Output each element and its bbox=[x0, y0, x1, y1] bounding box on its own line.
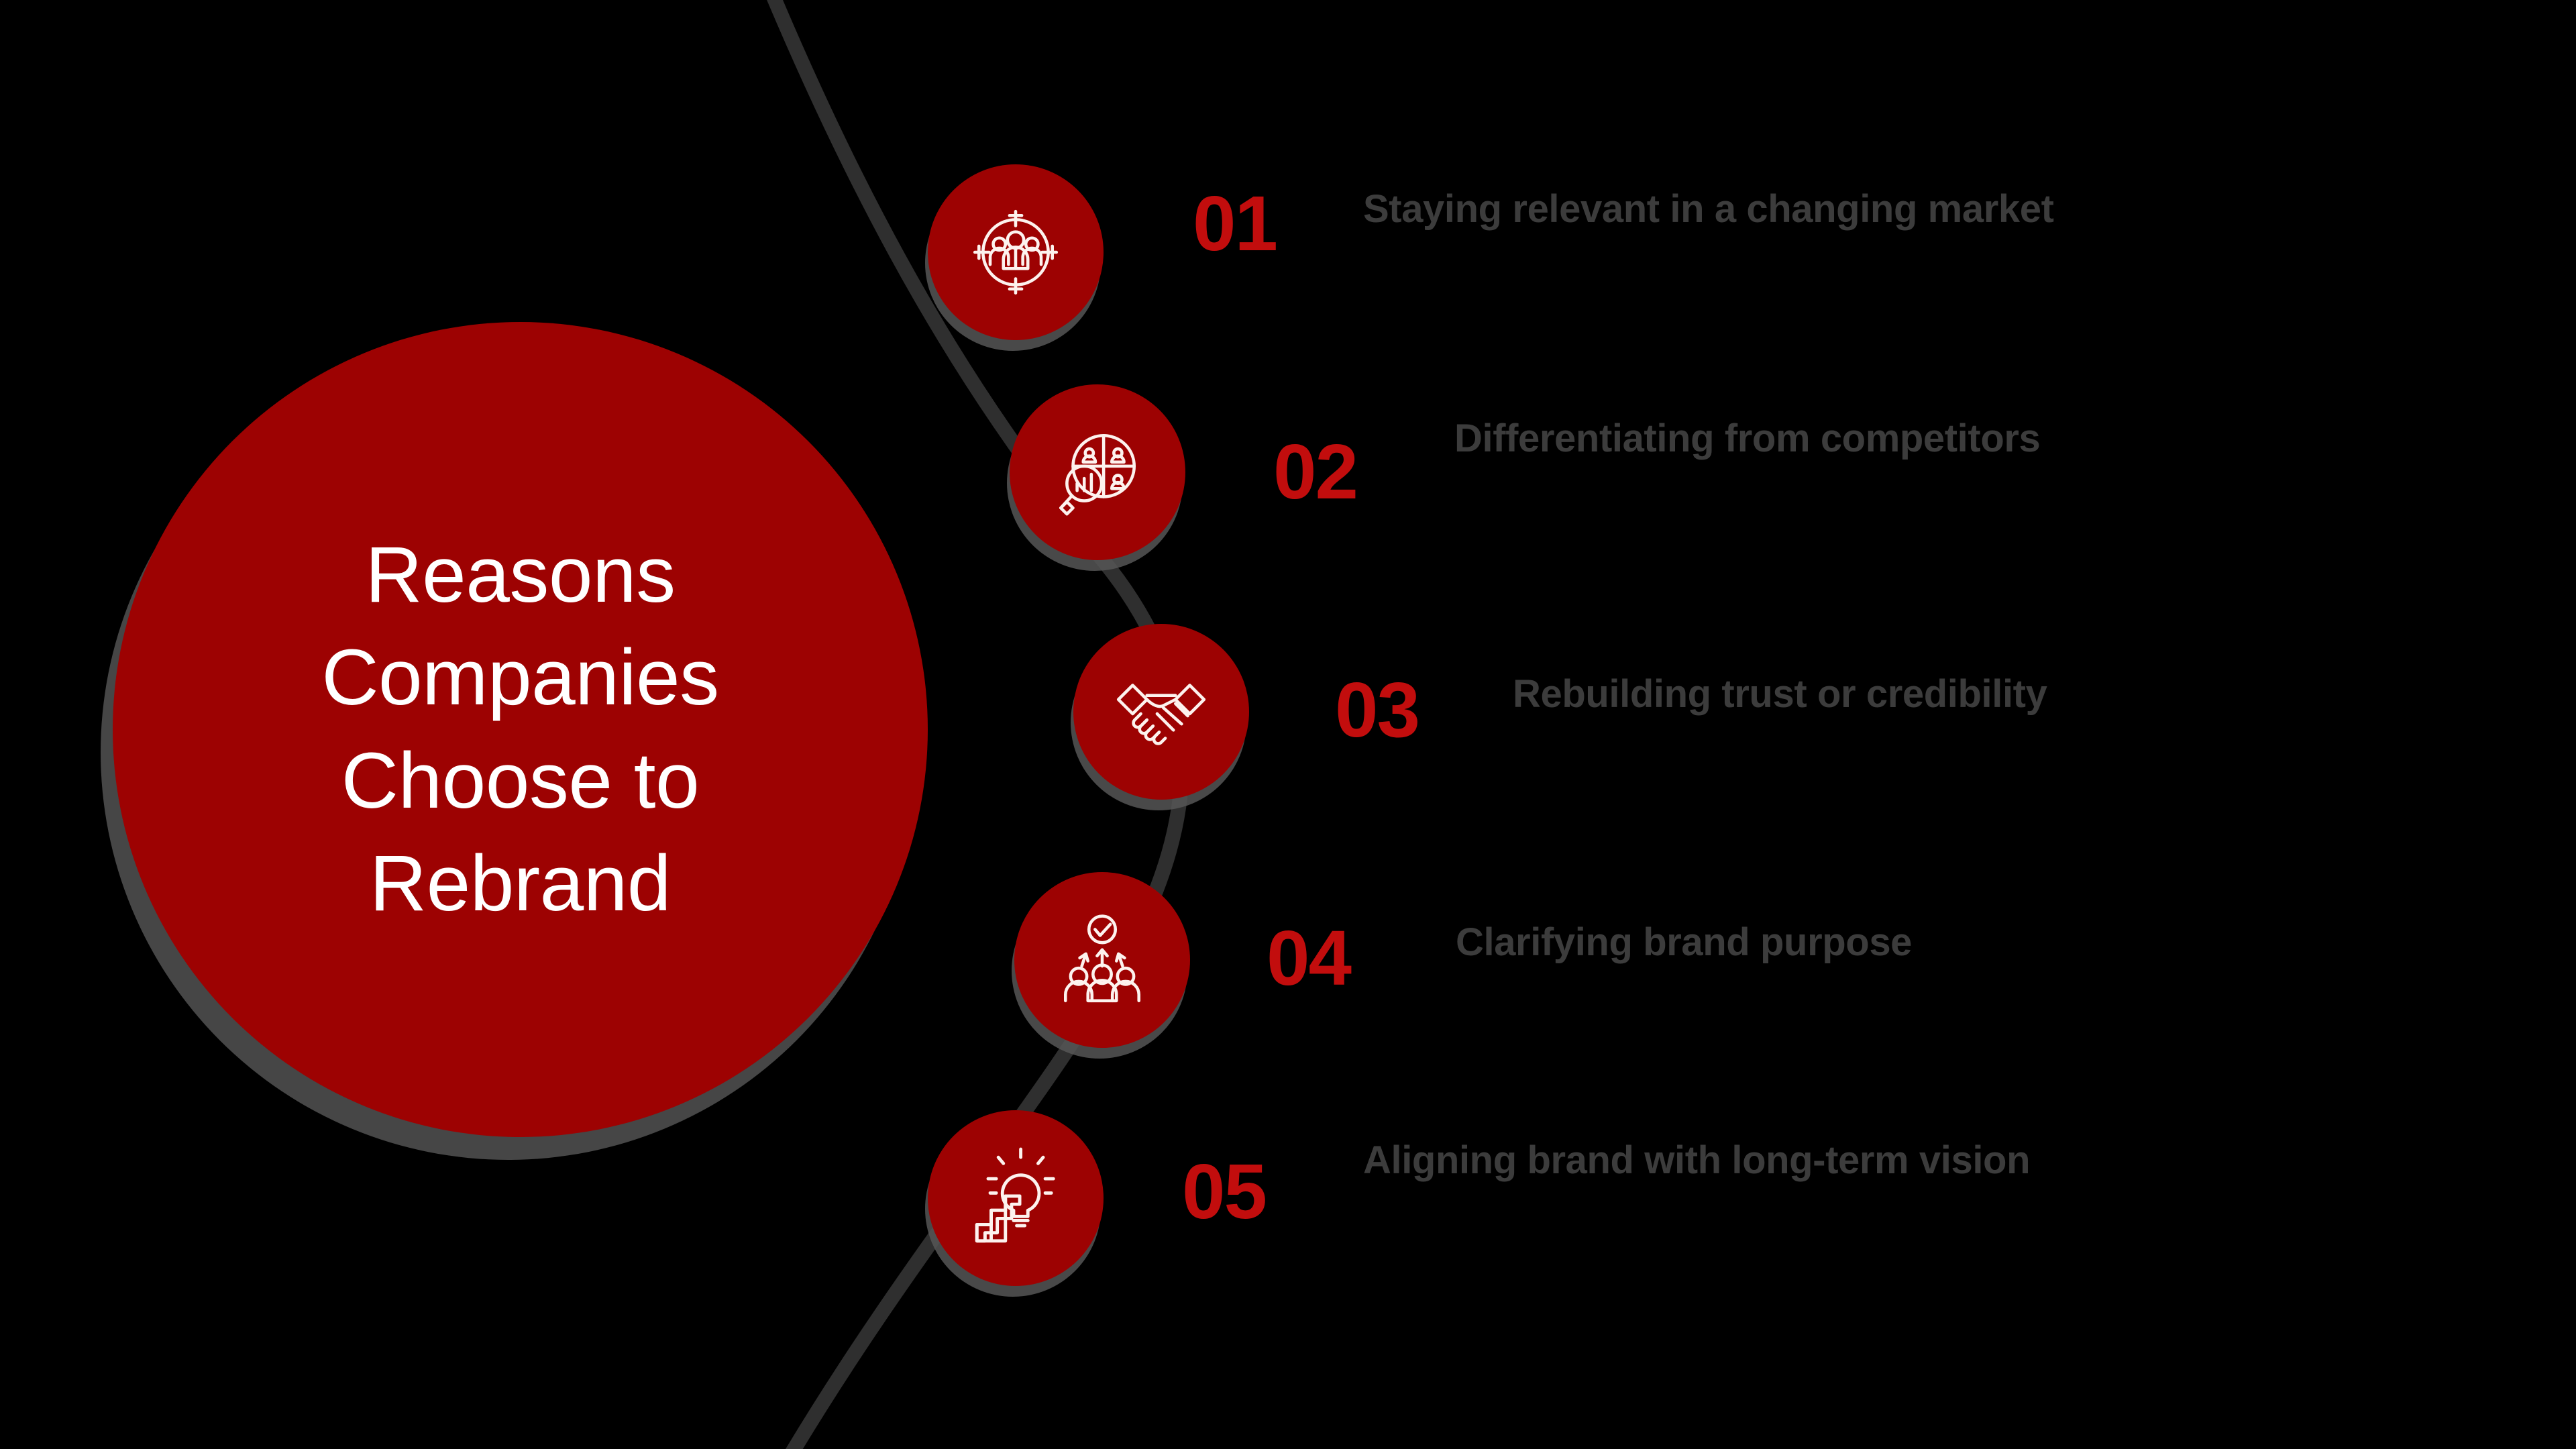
step-label-05: Aligning brand with long-term vision bbox=[1363, 1134, 2108, 1187]
step-number-04: 04 bbox=[1267, 919, 1350, 997]
handshake-icon bbox=[1110, 661, 1212, 763]
step-number-01: 01 bbox=[1193, 184, 1277, 262]
step-icon-circle-04[interactable] bbox=[1014, 872, 1190, 1048]
step-icon-circle-02[interactable] bbox=[1010, 384, 1185, 560]
team-checkmark-icon bbox=[1051, 909, 1153, 1011]
lightbulb-stairs-icon bbox=[965, 1147, 1067, 1249]
step-icon-circle-03[interactable] bbox=[1073, 624, 1249, 800]
step-label-04: Clarifying brand purpose bbox=[1456, 916, 2194, 969]
step-number-02: 02 bbox=[1273, 433, 1357, 511]
step-number-03: 03 bbox=[1335, 671, 1419, 749]
hero-circle: Reasons Companies Choose to Rebrand bbox=[113, 322, 928, 1137]
step-number-05: 05 bbox=[1182, 1152, 1266, 1230]
page-title: Reasons Companies Choose to Rebrand bbox=[162, 524, 879, 936]
step-label-02: Differentiating from competitors bbox=[1454, 412, 2125, 466]
market-analysis-magnifier-icon bbox=[1046, 421, 1148, 523]
infographic-canvas: Reasons Companies Choose to Rebrand bbox=[0, 0, 2576, 1449]
step-icon-circle-05[interactable] bbox=[928, 1110, 1104, 1286]
target-audience-icon bbox=[965, 201, 1067, 303]
step-label-01: Staying relevant in a changing market bbox=[1363, 182, 2108, 236]
step-label-03: Rebuilding trust or credibility bbox=[1513, 667, 2318, 721]
step-icon-circle-01[interactable] bbox=[928, 164, 1104, 340]
